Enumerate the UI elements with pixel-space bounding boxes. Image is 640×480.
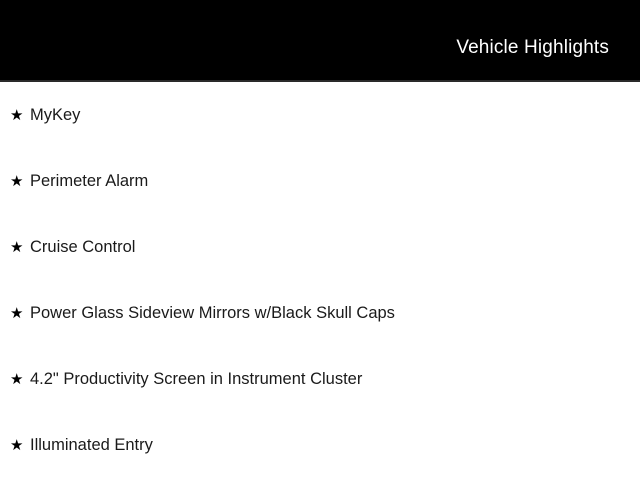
vehicle-highlights-list: ★ MyKey ★ Perimeter Alarm ★ Cruise Contr…	[0, 82, 640, 480]
list-item-label: MyKey	[30, 106, 80, 125]
list-item-label: Illuminated Entry	[30, 436, 153, 455]
star-icon: ★	[10, 372, 30, 387]
list-item-label: Perimeter Alarm	[30, 172, 148, 191]
star-icon: ★	[10, 306, 30, 321]
list-item: ★ 4.2" Productivity Screen in Instrument…	[0, 346, 640, 412]
star-icon: ★	[10, 438, 30, 453]
list-item-label: Cruise Control	[30, 238, 135, 257]
page-header: Vehicle Highlights	[0, 0, 640, 80]
list-item: ★ Power Glass Sideview Mirrors w/Black S…	[0, 280, 640, 346]
list-item: ★ Illuminated Entry	[0, 412, 640, 478]
list-item: ★ Perimeter Alarm	[0, 148, 640, 214]
vehicle-highlights-page: Vehicle Highlights ★ MyKey ★ Perimeter A…	[0, 0, 640, 480]
list-item-label: Power Glass Sideview Mirrors w/Black Sku…	[30, 304, 395, 323]
list-item: ★ Cruise Control	[0, 214, 640, 280]
page-title: Vehicle Highlights	[456, 24, 640, 57]
star-icon: ★	[10, 108, 30, 123]
star-icon: ★	[10, 240, 30, 255]
list-item: ★ MyKey	[0, 82, 640, 148]
list-item-label: 4.2" Productivity Screen in Instrument C…	[30, 370, 362, 389]
star-icon: ★	[10, 174, 30, 189]
